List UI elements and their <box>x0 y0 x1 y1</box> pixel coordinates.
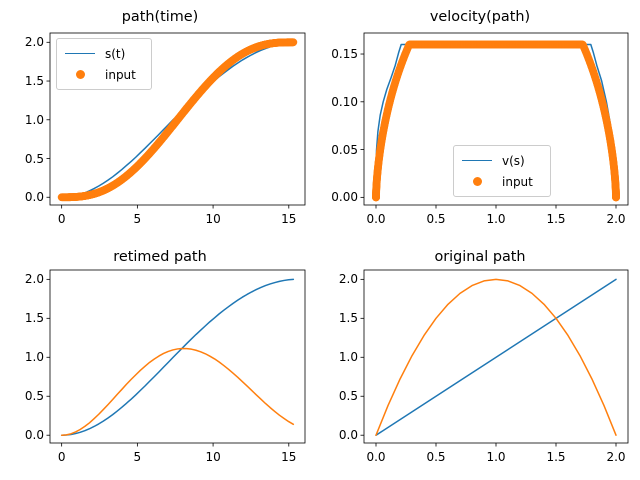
x-tick-label: 1.0 <box>486 212 505 226</box>
subplot-velocity-path: velocity(path) v(s) input 0.00.51.01.52.… <box>320 0 640 240</box>
x-tick-label: 15 <box>281 212 296 226</box>
subplot-path-time: path(time) s(t) input 0510150.00.51.01.5… <box>0 0 320 240</box>
x-tick-label: 5 <box>134 450 142 464</box>
x-tick-label: 10 <box>205 212 220 226</box>
x-tick-label: 0.5 <box>426 450 445 464</box>
marker-swatch-icon <box>460 177 494 186</box>
subplot-original-path: original path 0.00.51.01.52.00.00.51.01.… <box>320 240 640 480</box>
x-tick-label: 1.0 <box>486 450 505 464</box>
plot-canvas-retimed-path <box>0 240 320 480</box>
legend-row: input <box>63 64 145 85</box>
y-tick-label: 0.15 <box>331 47 358 61</box>
matplotlib-figure: path(time) s(t) input 0510150.00.51.01.5… <box>0 0 640 480</box>
axes-title: path(time) <box>0 10 320 24</box>
line-swatch-icon <box>460 160 494 161</box>
legend-path-time: s(t) input <box>56 38 152 90</box>
x-tick-label: 2.0 <box>606 212 625 226</box>
x-tick-label: 0.0 <box>366 450 385 464</box>
y-tick-label: 0.10 <box>331 95 358 109</box>
y-tick-label: 1.5 <box>25 311 44 325</box>
axes-title: original path <box>320 250 640 264</box>
subplot-retimed-path: retimed path 0510150.00.51.01.52.0 <box>0 240 320 480</box>
x-tick-label: 1.5 <box>546 212 565 226</box>
x-tick-label: 10 <box>205 450 220 464</box>
line-swatch-icon <box>63 53 97 54</box>
plot-canvas-original-path <box>320 240 640 480</box>
y-tick-label: 0.00 <box>331 190 358 204</box>
y-tick-label: 0.5 <box>25 152 44 166</box>
legend-row: s(t) <box>63 43 145 64</box>
y-tick-label: 0.5 <box>339 389 358 403</box>
legend-label: input <box>97 68 136 82</box>
y-tick-label: 1.0 <box>25 350 44 364</box>
plot-canvas-path-time <box>0 0 320 240</box>
legend-row: input <box>460 171 544 192</box>
y-tick-label: 0.0 <box>25 190 44 204</box>
x-tick-label: 2.0 <box>606 450 625 464</box>
plot-canvas-velocity-path <box>320 0 640 240</box>
y-tick-label: 1.5 <box>25 74 44 88</box>
y-tick-label: 2.0 <box>25 272 44 286</box>
x-tick-label: 0.0 <box>366 212 385 226</box>
legend-label: input <box>494 175 533 189</box>
axes-title: velocity(path) <box>320 10 640 24</box>
marker-swatch-icon <box>63 70 97 79</box>
legend-label: v(s) <box>494 154 525 168</box>
x-tick-label: 1.5 <box>546 450 565 464</box>
x-tick-label: 5 <box>134 212 142 226</box>
y-tick-label: 1.0 <box>339 350 358 364</box>
x-tick-label: 0.5 <box>426 212 445 226</box>
y-tick-label: 0.05 <box>331 143 358 157</box>
legend-label: s(t) <box>97 47 125 61</box>
y-tick-label: 0.0 <box>339 428 358 442</box>
y-tick-label: 1.0 <box>25 113 44 127</box>
legend-velocity-path: v(s) input <box>453 145 551 197</box>
x-tick-label: 15 <box>281 450 296 464</box>
x-tick-label: 0 <box>58 212 66 226</box>
y-tick-label: 2.0 <box>25 35 44 49</box>
y-tick-label: 2.0 <box>339 272 358 286</box>
legend-row: v(s) <box>460 150 544 171</box>
y-tick-label: 0.5 <box>25 389 44 403</box>
y-tick-label: 1.5 <box>339 311 358 325</box>
y-tick-label: 0.0 <box>25 428 44 442</box>
x-tick-label: 0 <box>58 450 66 464</box>
axes-title: retimed path <box>0 250 320 264</box>
